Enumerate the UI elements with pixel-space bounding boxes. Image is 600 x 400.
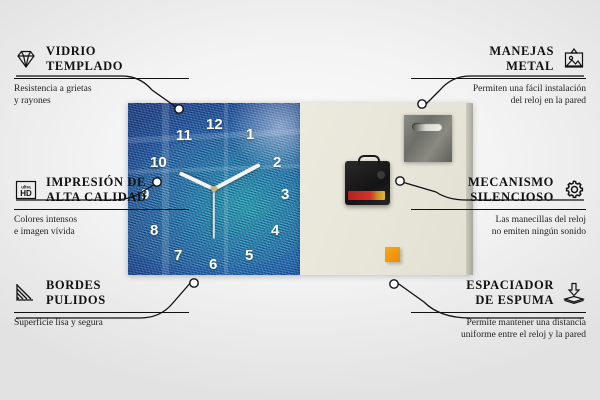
feature-title-line2: METAL bbox=[489, 59, 554, 74]
feature-desc-line2: e imagen vívida bbox=[14, 226, 189, 238]
feature-desc-line1: Las manecillas del reloj bbox=[411, 214, 586, 226]
ultra-hd-icon: ultra HD bbox=[14, 178, 38, 202]
battery-strip bbox=[348, 191, 386, 200]
feature-desc-line2: del reloj en la pared bbox=[411, 95, 586, 107]
feature-title-line1: MANEJAS bbox=[489, 44, 554, 59]
clock-numeral-12: 12 bbox=[206, 117, 223, 132]
clock-numeral-5: 5 bbox=[245, 248, 253, 263]
clock-numeral-2: 2 bbox=[273, 155, 281, 170]
gear-icon bbox=[562, 178, 586, 202]
clock-center-pin bbox=[211, 186, 217, 192]
highlight-glow bbox=[228, 103, 300, 174]
feature-impresion-alta-calidad: ultra HD IMPRESIÓN DE ALTA CALIDAD Color… bbox=[14, 175, 189, 238]
clock-numeral-11: 11 bbox=[176, 128, 192, 143]
clock-numeral-1: 1 bbox=[246, 127, 254, 142]
feature-desc-line1: Resistencia a grietas bbox=[14, 83, 189, 95]
feature-espaciador-de-espuma: ESPACIADOR DE ESPUMA Permite mantener un… bbox=[411, 278, 586, 341]
feature-divider bbox=[411, 78, 586, 79]
feature-divider bbox=[411, 209, 586, 210]
svg-text:HD: HD bbox=[20, 189, 32, 198]
connector-dot-espaciador bbox=[390, 280, 398, 288]
connector-dot-bordes bbox=[190, 279, 198, 287]
polished-edge-icon bbox=[14, 281, 38, 305]
feature-desc-line2: uniforme entre el reloj y la pared bbox=[411, 329, 586, 341]
clock-mechanism-box bbox=[345, 161, 390, 205]
feature-bordes-pulidos: BORDES PULIDOS Superficie lisa y segura bbox=[14, 278, 189, 329]
diamond-icon bbox=[14, 47, 38, 71]
metal-hanger-plate bbox=[404, 115, 452, 162]
feature-desc-line1: Superficie lisa y segura bbox=[14, 317, 189, 329]
feature-desc-line2: y rayones bbox=[14, 95, 189, 107]
feature-title-line2: SILENCIOSO bbox=[468, 190, 554, 205]
mechanism-hang-loop bbox=[358, 155, 380, 166]
clock-numeral-4: 4 bbox=[271, 223, 279, 238]
feature-title-line1: VIDRIO bbox=[46, 44, 123, 59]
feature-mecanismo-silencioso: MECANISMO SILENCIOSO Las manecillas del … bbox=[411, 175, 586, 238]
feature-divider bbox=[411, 312, 586, 313]
feature-desc-line1: Permite mantener una distancia bbox=[411, 317, 586, 329]
feature-title-line2: DE ESPUMA bbox=[466, 293, 554, 308]
feature-title-line1: MECANISMO bbox=[468, 175, 554, 190]
clock-numeral-7: 7 bbox=[174, 248, 182, 263]
feature-divider bbox=[14, 312, 189, 313]
feature-vidrio-templado: VIDRIO TEMPLADO Resistencia a grietas y … bbox=[14, 44, 189, 107]
clock-second-hand bbox=[213, 189, 215, 239]
feature-title-line2: PULIDOS bbox=[46, 293, 106, 308]
feature-desc-line1: Permiten una fácil instalación bbox=[411, 83, 586, 95]
feature-desc-line2: no emiten ningún sonido bbox=[411, 226, 586, 238]
hanger-keyhole-slot bbox=[412, 123, 442, 131]
picture-hanger-icon bbox=[562, 47, 586, 71]
foam-spacer-square bbox=[385, 247, 400, 262]
feature-desc-line1: Colores intensos bbox=[14, 214, 189, 226]
mechanism-setting-dial bbox=[377, 171, 385, 179]
clock-numeral-10: 10 bbox=[150, 155, 167, 170]
feature-title-line1: BORDES bbox=[46, 278, 106, 293]
clock-numeral-6: 6 bbox=[209, 257, 217, 272]
feature-title-line1: ESPACIADOR bbox=[466, 278, 554, 293]
feature-manejas-metal: MANEJAS METAL Permiten una fácil instala… bbox=[411, 44, 586, 107]
feature-title-line1: IMPRESIÓN DE bbox=[46, 175, 147, 190]
feature-divider bbox=[14, 209, 189, 210]
feature-divider bbox=[14, 78, 189, 79]
infographic-canvas: 12 1 2 3 4 5 6 7 8 9 10 11 bbox=[0, 0, 600, 400]
feature-title-line2: TEMPLADO bbox=[46, 59, 123, 74]
feature-title-line2: ALTA CALIDAD bbox=[46, 190, 147, 205]
clock-numeral-3: 3 bbox=[281, 187, 289, 202]
arrow-down-layer-icon bbox=[562, 281, 586, 305]
